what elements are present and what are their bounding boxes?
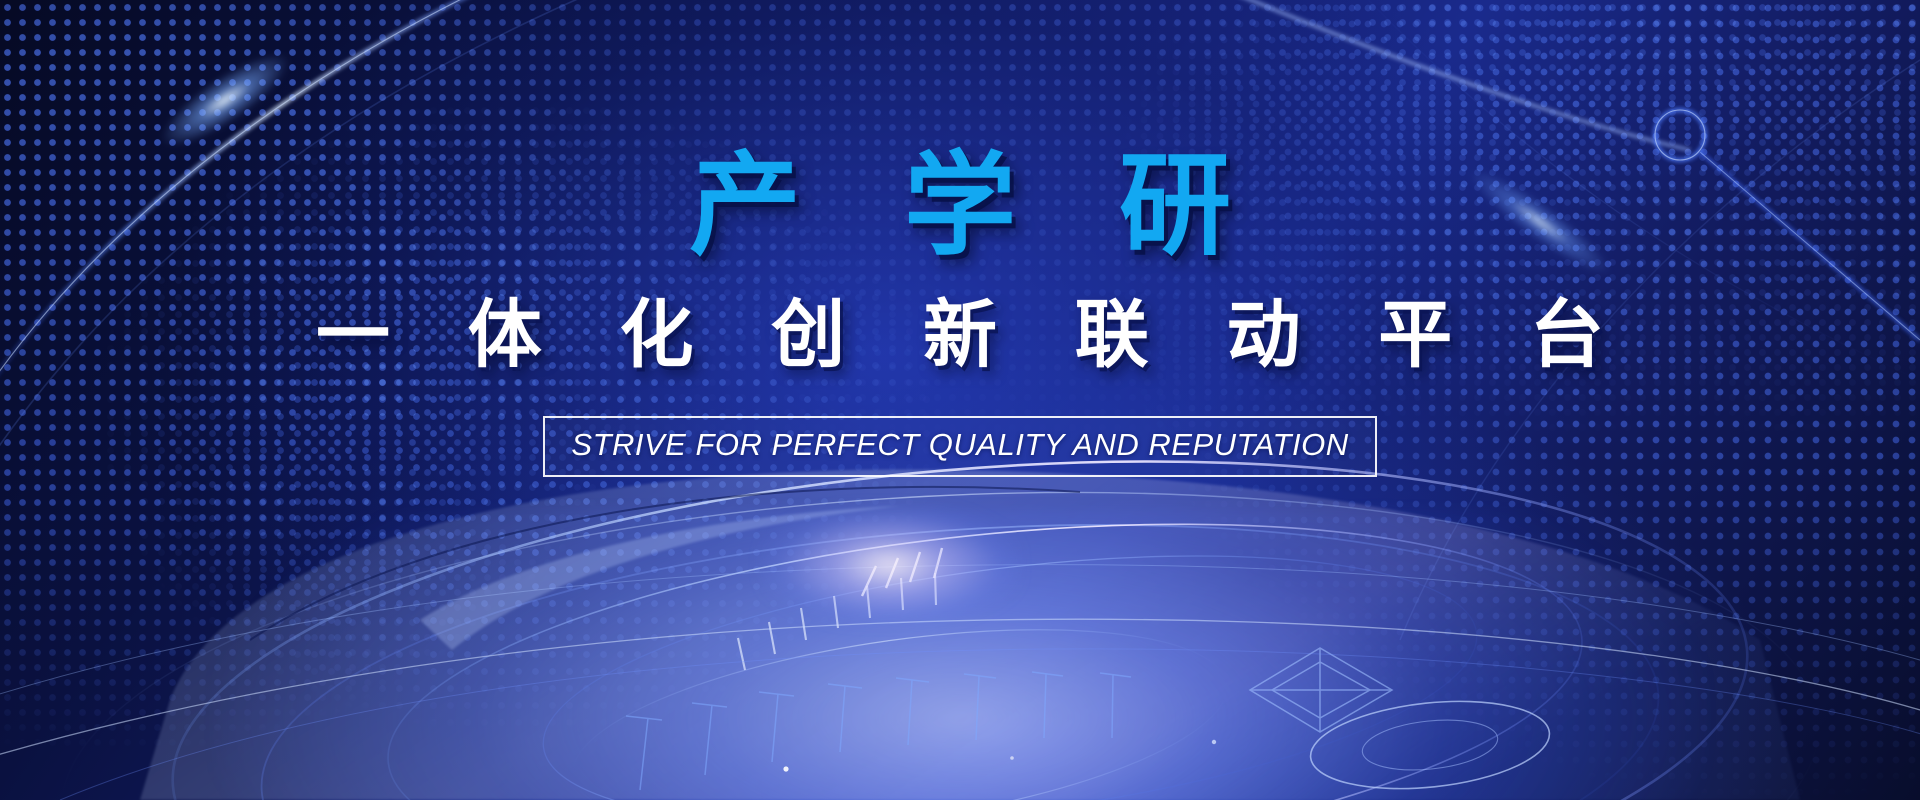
page-subtitle: 一 体 化 创 新 联 动 平 台 bbox=[290, 298, 1630, 372]
english-subtitle: STRIVE FOR PERFECT QUALITY AND REPUTATIO… bbox=[571, 427, 1348, 463]
english-subtitle-box: STRIVE FOR PERFECT QUALITY AND REPUTATIO… bbox=[543, 416, 1376, 477]
banner-content: 产 学 研 一 体 化 创 新 联 动 平 台 STRIVE FOR PERFE… bbox=[0, 0, 1920, 800]
page-title: 产 学 研 bbox=[657, 150, 1263, 262]
hero-banner: 产 学 研 一 体 化 创 新 联 动 平 台 STRIVE FOR PERFE… bbox=[0, 0, 1920, 800]
